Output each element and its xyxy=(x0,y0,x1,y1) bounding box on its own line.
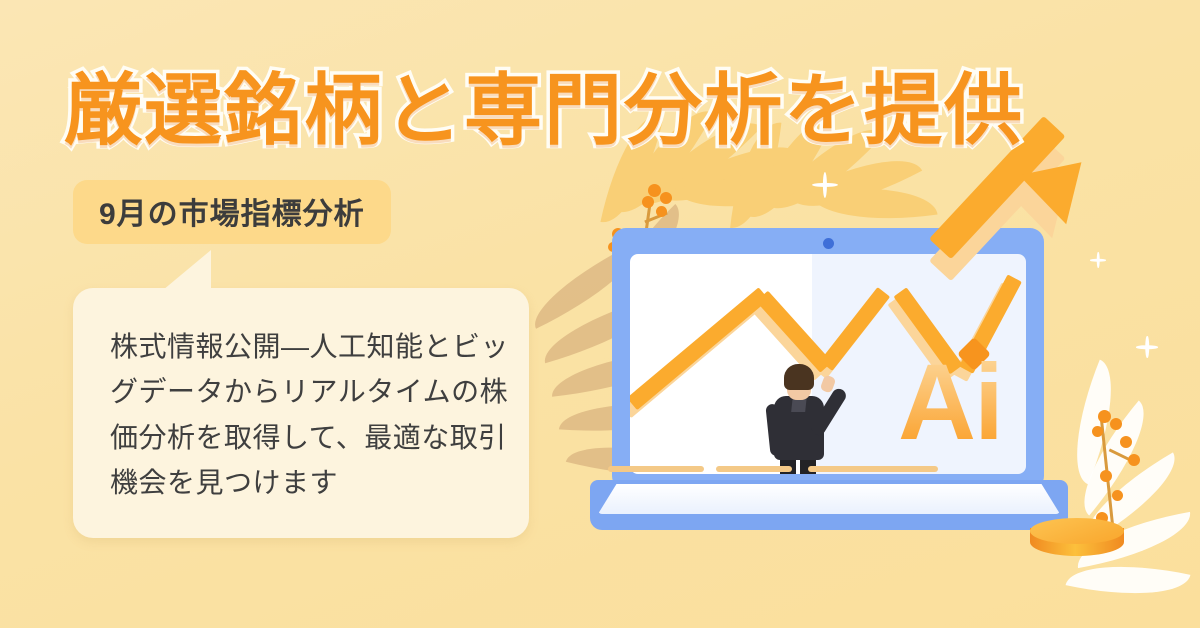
page-title: 厳選銘柄と専門分析を提供 xyxy=(64,48,1024,160)
webcam-icon xyxy=(823,238,834,249)
figure-hair xyxy=(784,364,814,390)
sparkle-icon xyxy=(812,172,838,198)
growth-arrow xyxy=(930,160,1120,390)
laptop-base xyxy=(590,480,1068,530)
laptop-keyboard-surface xyxy=(598,484,1060,514)
laptop-hinge-line xyxy=(716,466,792,472)
laptop-hinge-line xyxy=(808,466,938,472)
gold-coin xyxy=(1030,518,1124,562)
description-text: 株式情報公開—人工知能とビッグデータからリアルタイムの株価分析を取得して、最適な… xyxy=(110,324,522,505)
status-badge: 9月の市場指標分析 xyxy=(73,180,391,244)
description-card-tail xyxy=(163,250,211,290)
coin-top-face xyxy=(1030,518,1124,544)
white-leaf-decoration xyxy=(1058,396,1200,616)
laptop-hinge-line xyxy=(608,466,704,472)
sparkle-icon xyxy=(1136,336,1158,358)
banner-canvas: Ai 厳選銘柄と専門分析を提供 9月の市場指標分析 株式情報公開—人工知能とビッ… xyxy=(0,0,1200,628)
businessman-pointing xyxy=(758,364,838,474)
